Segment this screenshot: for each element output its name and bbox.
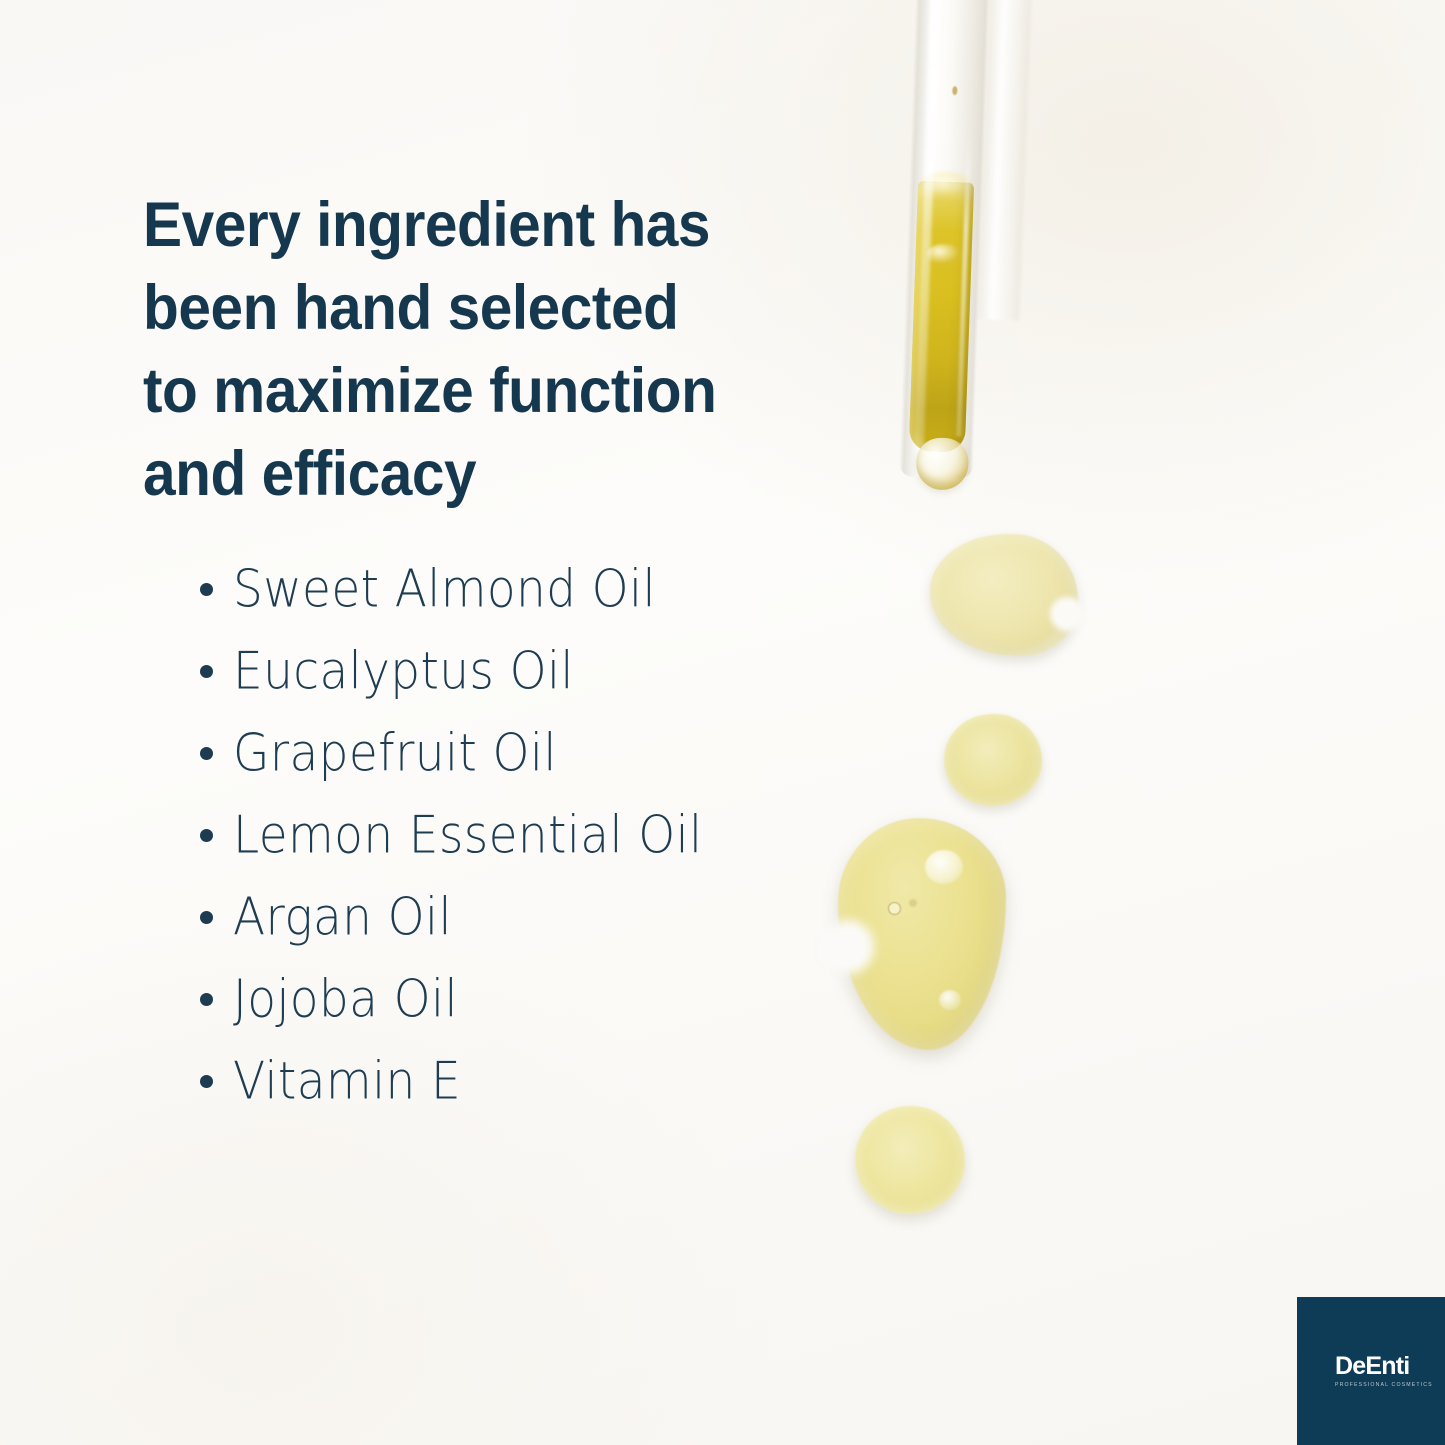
headline-line-4: and efficacy [143,433,794,516]
ingredient-label: Lemon Essential Oil [233,809,702,861]
droplet-bubble-dot [909,899,917,907]
list-item: Eucalyptus Oil [200,630,732,712]
ingredient-label: Sweet Almond Oil [233,563,656,615]
brand-tagline: PROFESSIONAL COSMETICS [1335,1383,1445,1388]
brand-logo: DeEnti PROFESSIONAL COSMETICS [1297,1354,1445,1388]
droplet-body [944,714,1042,806]
droplet-waist [822,920,874,974]
bullet-icon [200,747,213,760]
list-item: Lemon Essential Oil [200,794,732,876]
list-item: Vitamin E [200,1040,732,1122]
list-item: Jojoba Oil [200,958,732,1040]
droplet-bubble-ring [888,902,901,915]
droplet-body [930,534,1078,656]
bullet-icon [200,1075,213,1088]
infographic-canvas: Every ingredient has been hand selected … [0,0,1445,1445]
oil-droplet-large-kidney [838,818,1006,1050]
headline-line-1: Every ingredient has [143,184,794,267]
oil-droplet-small-round [944,714,1042,806]
bullet-icon [200,993,213,1006]
bullet-icon [200,911,213,924]
list-item: Argan Oil [200,876,732,958]
brand-panel: DeEnti PROFESSIONAL COSMETICS [1297,1297,1445,1445]
ingredient-label: Grapefruit Oil [233,727,557,779]
headline-line-2: been hand selected [143,267,794,350]
bullet-icon [200,665,213,678]
droplet-bubble-lower [939,990,961,1010]
ingredient-list: Sweet Almond Oil Eucalyptus Oil Grapefru… [200,548,732,1122]
oil-droplet-bottom-round [855,1106,965,1214]
headline-line-3: to maximize function [143,350,794,433]
brand-wordmark: DeEnti [1335,1354,1409,1379]
oil-droplet-irregular [930,534,1078,656]
bullet-icon [200,829,213,842]
list-item: Grapefruit Oil [200,712,732,794]
headline: Every ingredient has been hand selected … [143,184,794,516]
droplet-body [855,1106,965,1214]
ingredient-label: Argan Oil [233,891,452,943]
ingredient-label: Eucalyptus Oil [233,645,574,697]
ingredient-label: Vitamin E [233,1055,461,1107]
ingredient-label: Jojoba Oil [233,973,458,1025]
bullet-icon [200,583,213,596]
list-item: Sweet Almond Oil [200,548,732,630]
